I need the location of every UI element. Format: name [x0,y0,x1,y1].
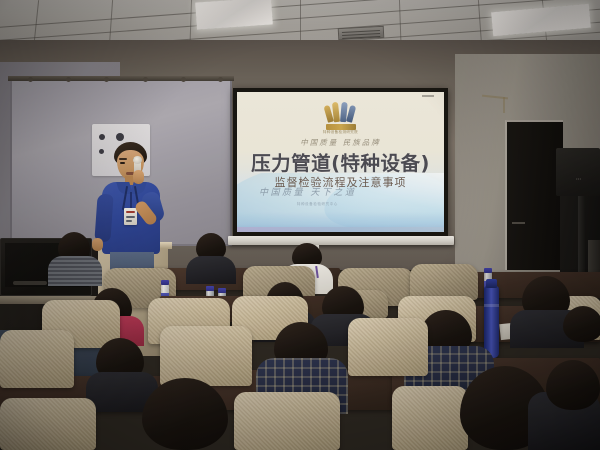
presenter-hand [133,170,144,184]
fluorescent-light-panel [195,0,273,30]
presenter-speaker [88,142,172,272]
dark-doorway[interactable] [505,120,563,270]
display-pole [578,196,585,274]
microphone-head [133,156,142,164]
audience-member [546,360,600,410]
slide-title: 压力管道(特种设备) [237,147,444,176]
fluorescent-light-panel [491,4,591,36]
presenter-hand [92,238,103,251]
conference-chair[interactable] [392,386,468,450]
conference-chair[interactable] [160,326,252,386]
id-badge [124,208,137,225]
audience-member [48,256,102,286]
logo-caption: 特种设备检测研究院 [323,130,358,135]
conference-chair[interactable] [234,392,340,450]
presenter-left-arm [94,194,113,243]
screen-corner-mark [422,95,434,97]
audience-member [563,306,600,342]
meeting-room-photo: ••• 特种设备检测研究院 中国质量 民族品牌 [0,0,600,450]
slide-signature: 中国质量 天下之道 [259,185,356,198]
audience-member [186,256,236,284]
slide-organization: 特种设备检验研究中心 [297,201,338,206]
ceiling-air-vent [338,26,385,40]
whiteboard-top-rail [8,76,234,81]
torch-emblem-logo [324,101,358,131]
blue-sport-bottle[interactable] [484,286,499,358]
presentation-slide: 特种设备检测研究院 中国质量 民族品牌 压力管道(特种设备) 监督检验流程及注意… [237,92,444,232]
conference-chair[interactable] [0,330,74,388]
door-handle[interactable] [512,222,525,224]
wall-mark [503,97,505,113]
conference-chair[interactable] [0,398,96,450]
conference-chair[interactable] [348,318,428,376]
projection-screen-roller-bar [228,236,454,245]
projection-screen: 特种设备检测研究院 中国质量 民族品牌 压力管道(特种设备) 监督检验流程及注意… [233,88,448,236]
display-brand-logo: ••• [576,176,581,181]
slide-footer-band [237,227,444,232]
wall-mounted-display [556,148,600,196]
conference-chair[interactable] [410,264,478,300]
